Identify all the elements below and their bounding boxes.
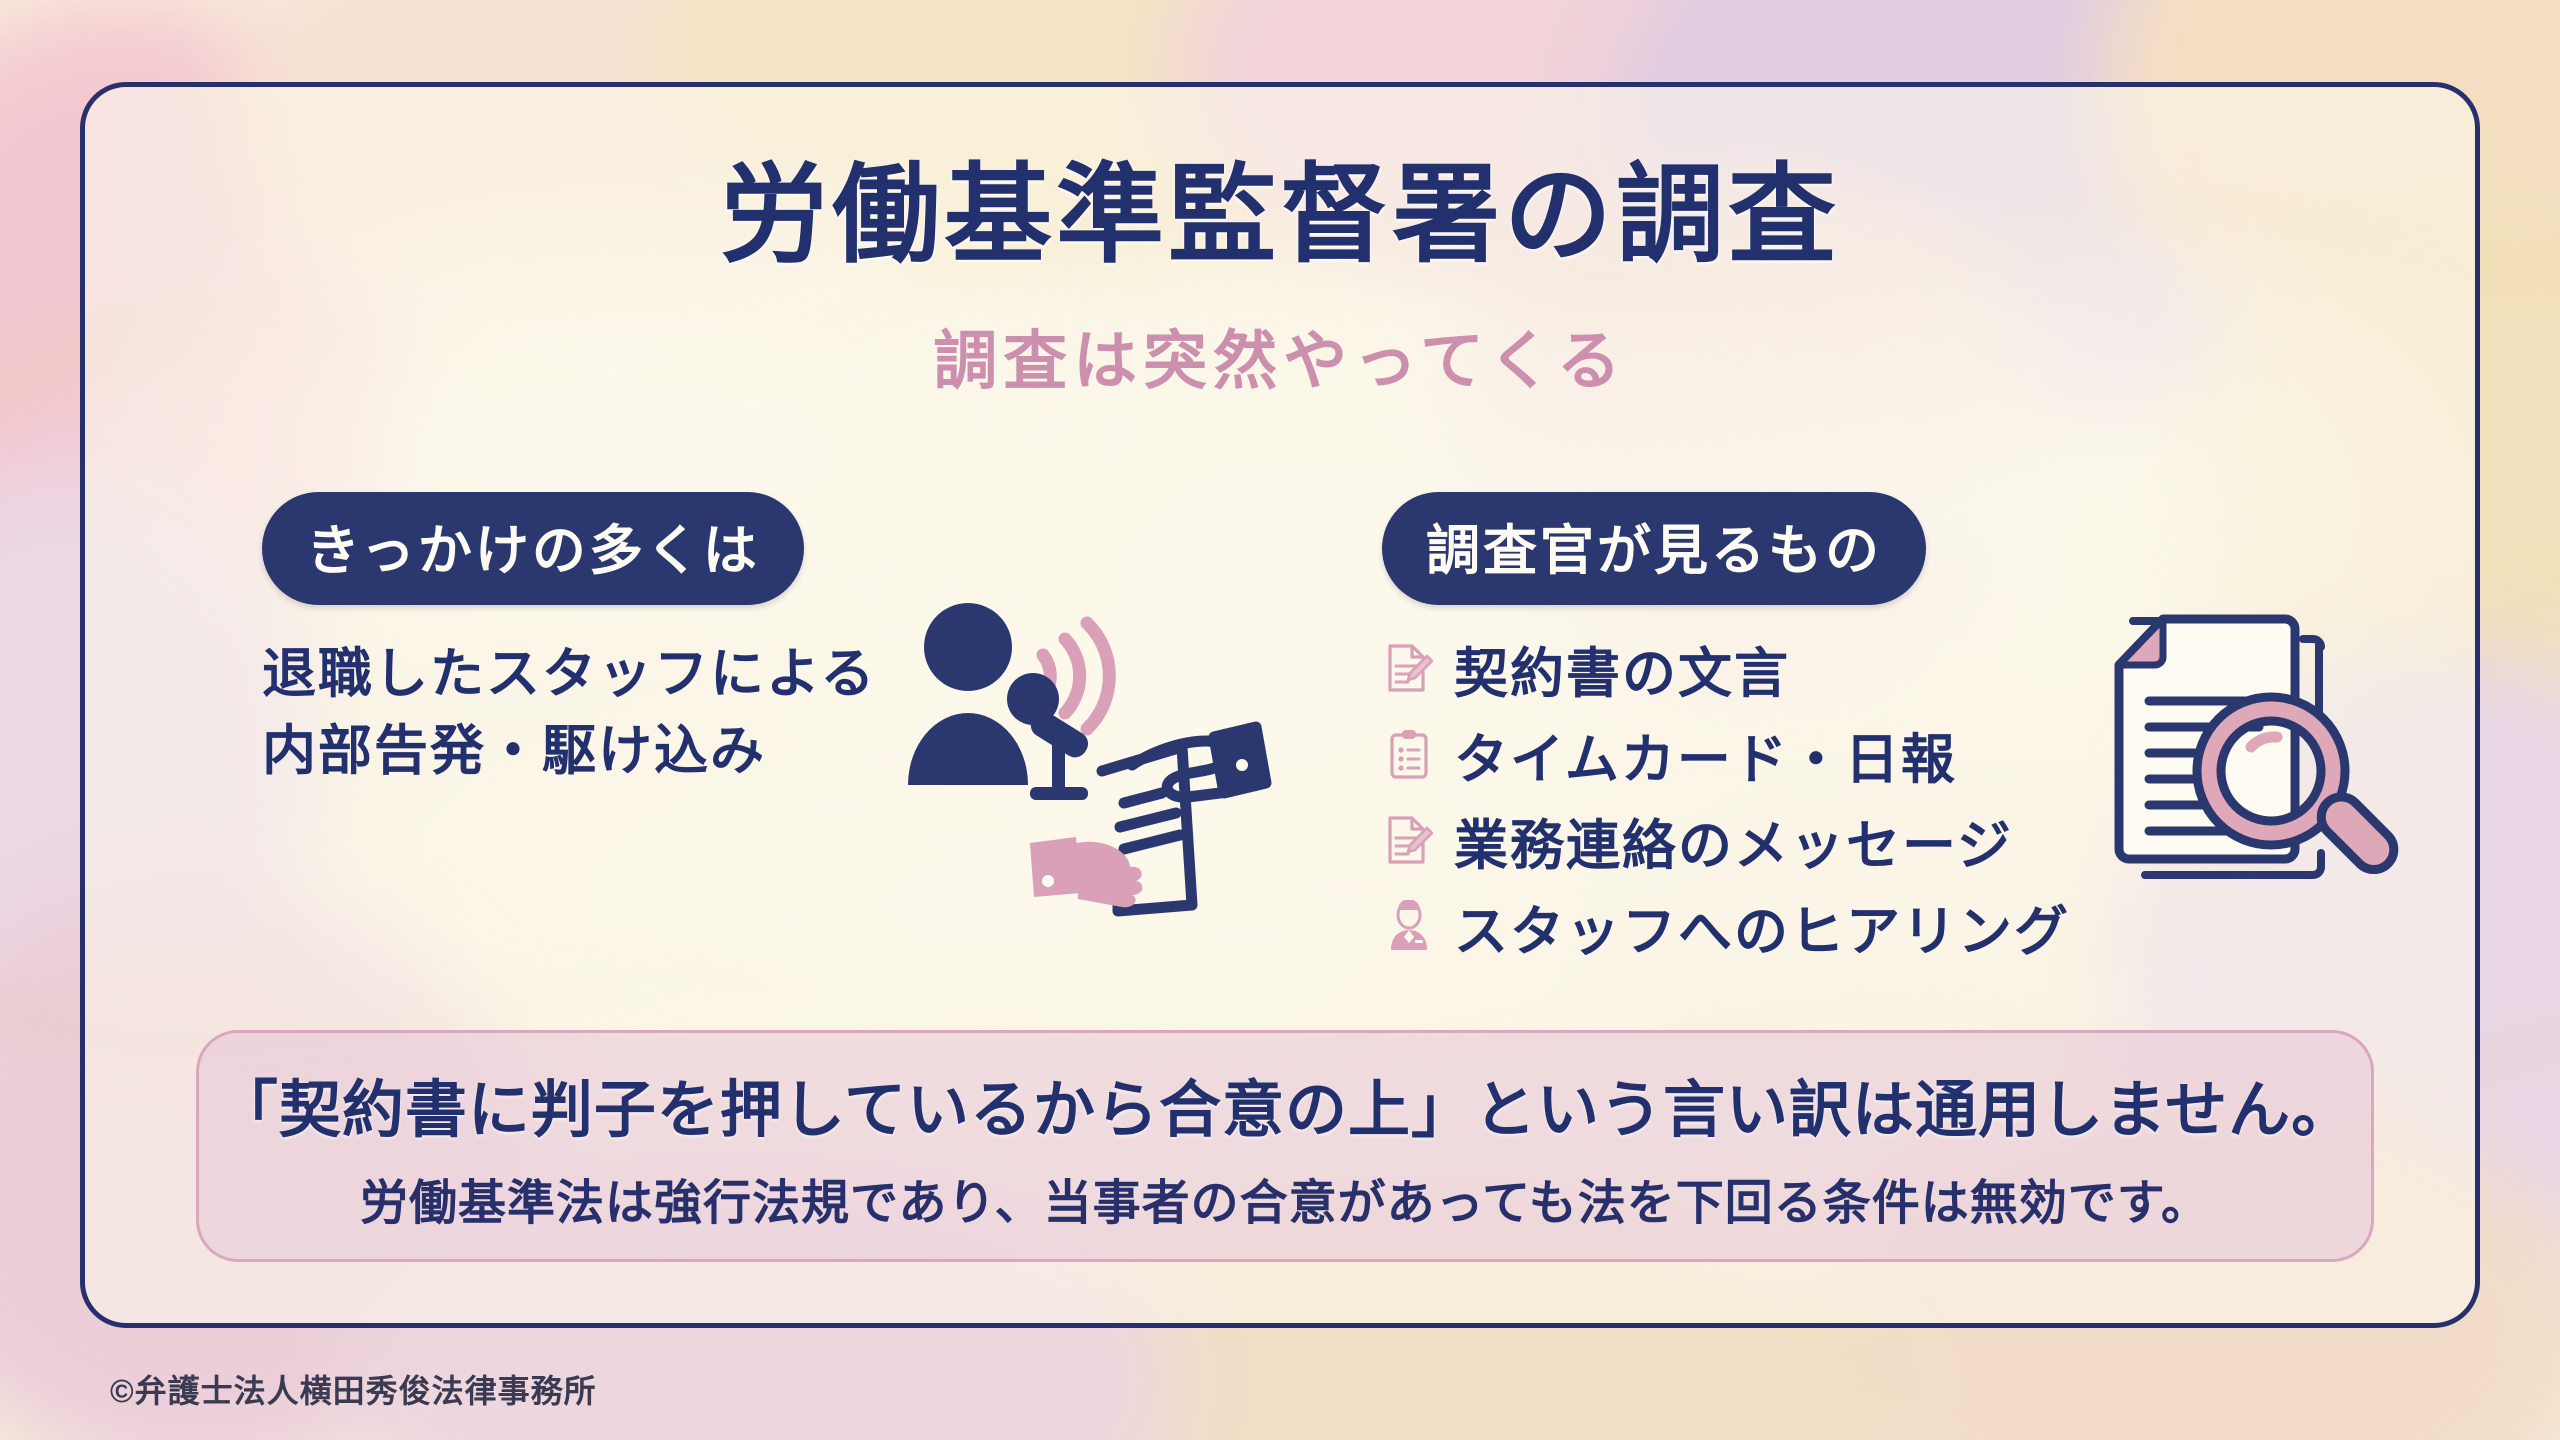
left-body-line-2: 内部告発・駆け込み — [262, 713, 876, 790]
inspection-items-list: 契約書の文言 タイムカード・日報 業 — [1380, 628, 2070, 972]
list-item: 業務連絡のメッセージ — [1380, 800, 2070, 880]
section-heading-inspection: 調査官が見るもの — [1382, 492, 1926, 605]
callout-main-text: 「契約書に判子を押しているから合意の上」という言い訳は通用しません。 — [216, 1059, 2354, 1149]
callout-box: 「契約書に判子を押しているから合意の上」という言い訳は通用しません。 労働基準法… — [196, 1030, 2374, 1262]
list-item-label: 契約書の文言 — [1454, 629, 1790, 708]
list-item: タイムカード・日報 — [1380, 714, 2070, 794]
clipboard-list-icon — [1380, 723, 1438, 785]
left-body-line-1: 退職したスタッフによる — [262, 636, 876, 713]
document-pencil-icon — [1380, 809, 1438, 871]
page-subtitle: 調査は突然やってくる — [0, 310, 2560, 402]
list-item: スタッフへのヒアリング — [1380, 886, 2070, 966]
list-item-label: 業務連絡のメッセージ — [1454, 801, 2013, 880]
document-pencil-icon — [1380, 637, 1438, 699]
copyright-footer: ©弁護士法人横田秀俊法律事務所 — [110, 1366, 597, 1412]
whistleblower-illustration — [880, 575, 1300, 945]
callout-sub-text: 労働基準法は強行法規であり、当事者の合意があっても法を下回る条件は無効です。 — [360, 1163, 2210, 1233]
section-heading-trigger: きっかけの多くは — [262, 492, 804, 605]
list-item-label: タイムカード・日報 — [1454, 715, 1957, 794]
list-item-label: スタッフへのヒアリング — [1454, 887, 2070, 966]
list-item: 契約書の文言 — [1380, 628, 2070, 708]
left-section-body: 退職したスタッフによる 内部告発・駆け込み — [262, 636, 876, 789]
person-suit-icon — [1380, 895, 1438, 957]
document-magnifier-illustration — [2075, 575, 2425, 925]
page-title: 労働基準監督署の調査 — [0, 128, 2560, 284]
